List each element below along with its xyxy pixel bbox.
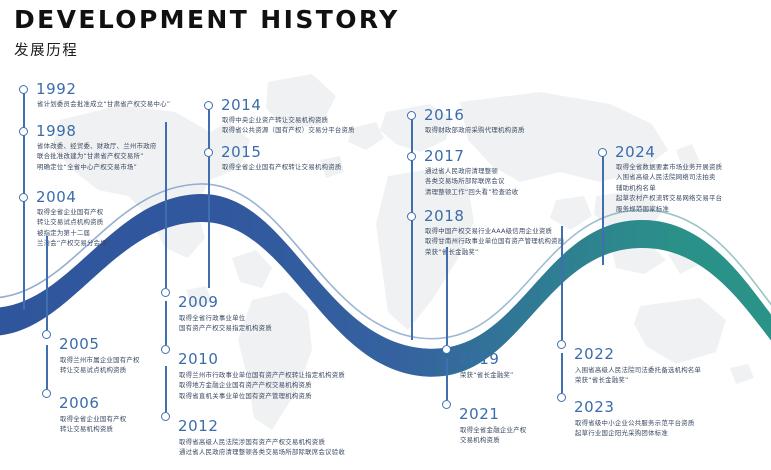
timeline-description-line: 荣获“省长金融奖” [460,370,514,380]
timeline-description-line: 服务规范国家标准 [616,204,722,214]
timeline-description-line: 辅助机构名单 [616,183,722,193]
timeline-year-2016: 2016 [424,108,465,123]
timeline-description-line: 交易机构资质 [460,435,526,445]
timeline-stem-2015 [208,155,209,288]
timeline-marker-2014[interactable] [204,101,213,110]
timeline-stem-2018 [411,219,412,340]
timeline-stem-2005 [46,236,47,330]
timeline-marker-2009[interactable] [161,288,170,297]
timeline-description-2016: 取得财政部政府采购代理机构资质 [425,125,525,135]
timeline-stem-2004 [23,200,24,258]
timeline-marker-2021[interactable] [442,400,451,409]
timeline-year-2004: 2004 [36,190,77,205]
timeline-description-2024: 取得全省数据要素市场业务开展资质入围省高级人民法院网络司法拍卖辅助机构名单起草农… [616,162,722,214]
timeline-description-line: 取得全省企业国有产权 [60,414,126,424]
timeline-description-line: 取得中国产权交易行业AAA级信用企业资质 [425,226,564,236]
timeline-description-2005: 取得兰州市属企业国有产权转让交易试点机构资质 [60,355,140,376]
world-map-watermark [0,0,771,470]
timeline-description-line: 取得全省金融企业产权 [460,425,526,435]
timeline-description-2015: 取得全省企业国有产权转让交易机构资质 [222,162,342,172]
timeline-year-1998: 1998 [36,124,77,139]
timeline-year-2009: 2009 [178,295,219,310]
timeline-stem-2012 [165,366,166,412]
timeline-description-line: 省计划委员会批准成立“甘肃省产权交易中心” [37,99,170,109]
timeline-marker-2004[interactable] [19,193,28,202]
timeline-marker-2018[interactable] [407,212,416,221]
timeline-description-2014: 取得中央企业资产转让交易机构资质取得省公共资源（国有产权）交易分平台资质 [222,115,355,136]
timeline-description-line: 入围省高级人民法院司法委托备选机构名单 [575,365,701,375]
timeline-year-2022: 2022 [574,347,615,362]
timeline-description-line: 省体改委、经贸委、财政厅、兰州市政府 [37,141,157,151]
timeline-description-line: 取得兰州市属企业国有产权 [60,355,140,365]
timeline-description-1992: 省计划委员会批准成立“甘肃省产权交易中心” [37,99,170,109]
timeline-year-2005: 2005 [59,337,100,352]
timeline-stem-2006 [46,345,47,389]
timeline-description-2009: 取得全省行政事业单位国有资产产权交易指定机构资质 [179,313,272,334]
infographic-canvas: 1992省计划委员会批准成立“甘肃省产权交易中心”1998省体改委、经贸委、财政… [0,0,771,470]
page-title-cn: 发展历程 [14,39,400,60]
timeline-description-1998: 省体改委、经贸委、财政厅、兰州市政府联合批准改建为“甘肃省产权交易所”明确定位“… [37,141,157,172]
timeline-year-2014: 2014 [221,98,262,113]
timeline-stem-2021 [446,358,447,400]
timeline-marker-1992[interactable] [19,85,28,94]
timeline-stem-2019 [446,247,447,345]
timeline-description-line: 取得全省企业国有产权转让交易机构资质 [222,162,342,172]
timeline-marker-2019[interactable] [442,345,451,354]
timeline-description-2021: 取得全省金融企业产权交易机构资质 [460,425,526,446]
timeline-description-line: 取得全省行政事业单位 [179,313,272,323]
timeline-description-line: 转让交易试点机构资质 [60,365,140,375]
timeline-description-line: 取得财政部政府采购代理机构资质 [425,125,525,135]
timeline-year-2024: 2024 [615,145,656,160]
timeline-stem-2022 [561,226,562,340]
timeline-description-line: 清理整顿工作“回头看”检查验收 [425,187,518,197]
timeline-year-2019: 2019 [459,352,500,367]
timeline-description-line: 通过省人民政府清理整顿 [425,166,518,176]
timeline-year-2017: 2017 [424,149,465,164]
timeline-description-line: 被指定为第十二届 [37,228,111,238]
timeline-year-2012: 2012 [178,419,219,434]
timeline-description-line: 兰洽会“产权交易分会场” [37,238,111,248]
timeline-marker-2005[interactable] [42,330,51,339]
timeline-description-line: 入围省高级人民法院网络司法拍卖 [616,172,722,182]
timeline-marker-1998[interactable] [19,127,28,136]
timeline-year-2006: 2006 [59,396,100,411]
page-header: DEVELOPMENT HISTORY 发展历程 [14,6,400,60]
timeline-year-2018: 2018 [424,209,465,224]
timeline-description-line: 转让交易机构资质 [60,424,126,434]
timeline-marker-2024[interactable] [598,148,607,157]
timeline-marker-2015[interactable] [204,148,213,157]
timeline-description-line: 取得全省企业国有产权 [37,207,111,217]
timeline-description-line: 转让交易试点机构资质 [37,217,111,227]
timeline-marker-2023[interactable] [557,393,566,402]
timeline-description-line: 取得中央企业资产转让交易机构资质 [222,115,355,125]
timeline-year-2021: 2021 [459,407,500,422]
timeline-year-2015: 2015 [221,145,262,160]
timeline-description-line: 明确定位“全省中心产权交易市场” [37,162,157,172]
timeline-description-2022: 入围省高级人民法院司法委托备选机构名单荣获“省长金融奖” [575,365,701,386]
timeline-description-2010: 取得兰州市行政事业单位国有资产产权转让指定机构资质取得地方金融企业国有资产产权交… [179,370,345,401]
timeline-description-line: 取得省直机关事业单位国有资产管理机构资质 [179,391,345,401]
page-title-en: DEVELOPMENT HISTORY [14,6,400,35]
timeline-description-line: 联合批准改建为“甘肃省产权交易所” [37,151,157,161]
timeline-description-2012: 取得省高级人民法院涉国有资产产权交易机构资质通过省人民政府清理整顿各类交易场所部… [179,437,345,458]
timeline-description-line: 取得省级中小企业公共服务示范平台资质 [575,418,695,428]
timeline-description-line: 取得地方金融企业国有资产产权交易机构资质 [179,380,345,390]
timeline-year-1992: 1992 [36,82,77,97]
timeline-description-line: 起草行业国企阳光采购团体标准 [575,428,695,438]
timeline-description-line: 取得省高级人民法院涉国有资产产权交易机构资质 [179,437,345,447]
timeline-year-2023: 2023 [574,400,615,415]
timeline-description-line: 通过省人民政府清理整顿各类交易场所部际联席会议验收 [179,447,345,457]
timeline-description-line: 取得兰州市行政事业单位国有资产产权转让指定机构资质 [179,370,345,380]
timeline-marker-2012[interactable] [161,412,170,421]
timeline-marker-2010[interactable] [161,345,170,354]
timeline-description-line: 国有资产产权交易指定机构资质 [179,323,272,333]
timeline-stem-2023 [561,353,562,393]
timeline-description-line: 起草农村产权流转交易网络交易平台 [616,193,722,203]
timeline-description-line: 各类交易场所部际联席会议 [425,176,518,186]
timeline-description-line: 取得甘南州行政事业单位国有资产管理机构资质 [425,236,564,246]
timeline-description-2017: 通过省人民政府清理整顿各类交易场所部际联席会议清理整顿工作“回头看”检查验收 [425,166,518,197]
timeline-description-line: 取得省公共资源（国有产权）交易分平台资质 [222,125,355,135]
timeline-stem-2009 [165,122,166,288]
timeline-description-line: 取得全省数据要素市场业务开展资质 [616,162,722,172]
timeline-year-2010: 2010 [178,352,219,367]
timeline-stem-2010 [165,301,166,345]
timeline-marker-2016[interactable] [407,111,416,120]
timeline-description-2006: 取得全省企业国有产权转让交易机构资质 [60,414,126,435]
timeline-description-2019: 荣获“省长金融奖” [460,370,514,380]
timeline-stem-2024 [602,155,603,265]
timeline-marker-2017[interactable] [407,152,416,161]
timeline-marker-2022[interactable] [557,340,566,349]
timeline-description-2023: 取得省级中小企业公共服务示范平台资质起草行业国企阳光采购团体标准 [575,418,695,439]
timeline-description-line: 荣获“省长金融奖” [575,375,701,385]
timeline-description-2004: 取得全省企业国有产权转让交易试点机构资质被指定为第十二届兰洽会“产权交易分会场” [37,207,111,249]
timeline-marker-2006[interactable] [42,389,51,398]
